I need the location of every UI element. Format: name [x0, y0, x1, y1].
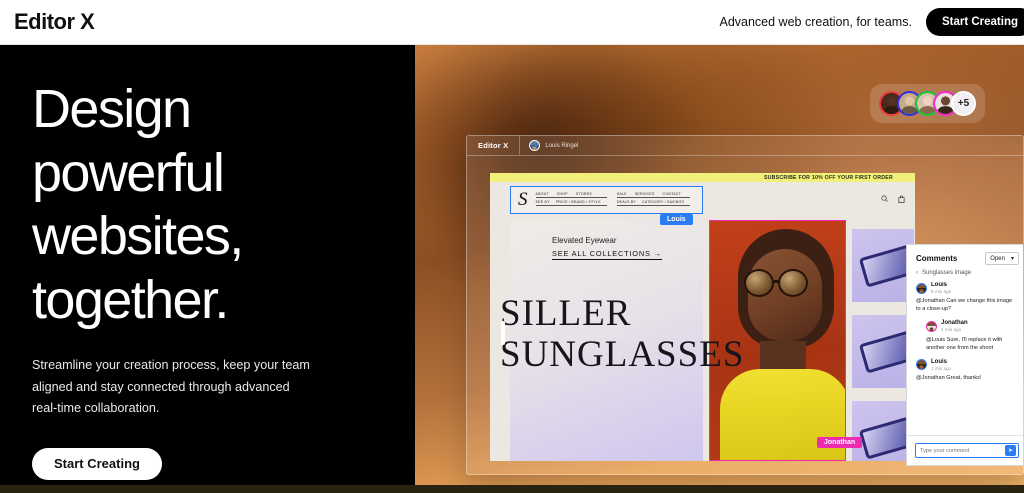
nav-subrow[interactable]: DEALS BY CATEGORY / SAVINGS	[617, 200, 690, 206]
comment-body: @Louis Sure, I'll replace it with anothe…	[926, 336, 1018, 352]
editor-toolbar: Editor X Louis Ringel	[467, 136, 1023, 156]
nav-subitem[interactable]: SEE BY	[536, 200, 550, 204]
nav-item[interactable]: ABOUT	[536, 192, 549, 196]
cursor-label-louis: Louis	[660, 214, 693, 225]
comments-panel: Comments Open ▾ ‹ Sunglasses image	[906, 244, 1024, 466]
person-icon	[917, 364, 926, 370]
avatar	[916, 359, 927, 370]
comment-item[interactable]: Louis 6 min ago @Jonathan Can we change …	[916, 282, 1018, 313]
editor-current-user[interactable]: Louis Ringel	[520, 140, 578, 151]
site-navigation-element[interactable]: S ABOUT SHOP STORES SEE BY PRICE / BRAND…	[510, 186, 703, 214]
promo-banner: SUBSCRIBE FOR 10% OFF YOUR FIRST ORDER	[490, 173, 915, 182]
comment-timestamp: 1 min ago	[931, 366, 951, 371]
comment-author: Louis	[931, 359, 951, 366]
person-icon	[530, 145, 539, 151]
breadcrumb-label: Sunglasses image	[922, 270, 971, 276]
site-header: Editor X Advanced web creation, for team…	[0, 0, 1024, 45]
editor-canvas[interactable]: SUBSCRIBE FOR 10% OFF YOUR FIRST ORDER S…	[490, 173, 915, 461]
comments-filter-value: Open	[990, 256, 1005, 262]
header-tagline: Advanced web creation, for teams.	[719, 15, 911, 29]
nav-item[interactable]: SALE	[617, 192, 627, 196]
product-thumbnail[interactable]	[852, 315, 914, 388]
nav-row[interactable]: ABOUT SHOP STORES	[536, 192, 607, 198]
site-logo-mark: S	[518, 189, 528, 211]
comments-list[interactable]: Louis 6 min ago @Jonathan Can we change …	[907, 282, 1024, 435]
collaborator-avatar-stack[interactable]: +5	[870, 84, 985, 123]
nav-item[interactable]: SERVICES	[635, 192, 655, 196]
comment-body: @Jonathan Can we change this image to a …	[916, 297, 1018, 313]
comments-header: Comments Open ▾	[907, 245, 1024, 270]
comment-input[interactable]	[920, 448, 1005, 454]
avatar	[926, 321, 937, 332]
comment-item[interactable]: Jonathan 4 min ago @Louis Sure, I'll rep…	[916, 320, 1018, 351]
nav-item[interactable]: STORES	[576, 192, 592, 196]
chevron-down-icon: ▾	[1011, 255, 1014, 262]
comment-body: @Jonathan Great, thanks!	[916, 374, 1018, 382]
header-right-group: Advanced web creation, for teams. Start …	[719, 0, 1024, 44]
page-title: Design powerful websites, together.	[32, 78, 383, 333]
chevron-left-icon[interactable]: ‹	[916, 270, 918, 276]
product-thumbnail[interactable]	[852, 229, 914, 302]
shopping-bag-icon[interactable]	[898, 195, 905, 203]
avatar-overflow-count[interactable]: +5	[951, 91, 976, 116]
nav-row[interactable]: SALE SERVICES CONTACT	[617, 192, 690, 198]
comment-timestamp: 6 min ago	[931, 289, 951, 294]
brand-logo[interactable]: Editor X	[14, 9, 94, 35]
site-utility-icons	[881, 195, 905, 203]
editor-window: Editor X Louis Ringel SUBSCRIBE FOR 10% …	[466, 135, 1024, 475]
see-all-collections-link[interactable]: SEE ALL COLLECTIONS →	[552, 249, 662, 260]
nav-column-secondary: SALE SERVICES CONTACT DEALS BY CATEGORY …	[617, 192, 690, 208]
site-headline-line2: SUNGLASSES	[500, 334, 830, 375]
person-icon	[927, 326, 936, 332]
editor-brand-label[interactable]: Editor X	[467, 136, 520, 155]
cursor-label-jonathan: Jonathan	[817, 437, 862, 448]
site-headline-line1: SILLER	[500, 293, 830, 334]
search-icon[interactable]	[881, 195, 888, 202]
sunglasses-bridge	[774, 280, 780, 283]
product-thumbnail[interactable]	[852, 401, 914, 461]
hero-right-panel: +5 Editor X Louis Ringel SUBSCRIBE FOR 1…	[415, 45, 1024, 493]
comment-meta: Jonathan 4 min ago	[941, 320, 968, 332]
comment-composer: ➤	[907, 435, 1024, 465]
editor-username-label: Louis Ringel	[545, 143, 578, 149]
comments-title: Comments	[916, 254, 957, 263]
nav-subitem[interactable]: PRICE / BRAND / STYLE	[556, 200, 601, 204]
nav-column-primary: ABOUT SHOP STORES SEE BY PRICE / BRAND /…	[536, 192, 607, 208]
start-creating-header-button[interactable]: Start Creating	[926, 8, 1024, 36]
site-eyebrow-text: Elevated Eyewear	[552, 236, 616, 245]
promo-banner-text: SUBSCRIBE FOR 10% OFF YOUR FIRST ORDER	[764, 175, 893, 181]
nav-item[interactable]: CONTACT	[663, 192, 682, 196]
comment-meta: Louis 1 min ago	[931, 359, 951, 371]
avatar	[916, 283, 927, 294]
comment-item[interactable]: Louis 1 min ago @Jonathan Great, thanks!	[916, 359, 1018, 382]
comment-author: Louis	[931, 282, 951, 289]
comment-author-row: Jonathan 4 min ago	[926, 320, 1018, 332]
comment-author-row: Louis 1 min ago	[916, 359, 1018, 371]
page-bottom-strip	[0, 485, 1024, 493]
send-comment-button[interactable]: ➤	[1005, 445, 1016, 456]
nav-subitem[interactable]: CATEGORY / SAVINGS	[642, 200, 684, 204]
site-headline: SILLER SUNGLASSES	[500, 293, 830, 376]
nav-subitem[interactable]: DEALS BY	[617, 200, 636, 204]
start-creating-hero-button[interactable]: Start Creating	[32, 448, 162, 480]
hero-left-panel: Design powerful websites, together. Stre…	[0, 45, 415, 493]
person-icon	[917, 288, 926, 294]
nav-subrow[interactable]: SEE BY PRICE / BRAND / STYLE	[536, 200, 607, 206]
comment-author-row: Louis 6 min ago	[916, 282, 1018, 294]
comment-author: Jonathan	[941, 320, 968, 327]
comments-filter-dropdown[interactable]: Open ▾	[985, 252, 1019, 265]
canvas-resize-handle[interactable]	[501, 321, 505, 345]
avatar	[529, 140, 540, 151]
comments-breadcrumb[interactable]: ‹ Sunglasses image	[907, 270, 1024, 282]
hero-subtext: Streamline your creation process, keep y…	[32, 355, 312, 420]
comment-meta: Louis 6 min ago	[931, 282, 951, 294]
nav-item[interactable]: SHOP	[557, 192, 568, 196]
comment-input-wrapper[interactable]: ➤	[915, 443, 1019, 458]
comment-timestamp: 4 min ago	[941, 327, 968, 332]
